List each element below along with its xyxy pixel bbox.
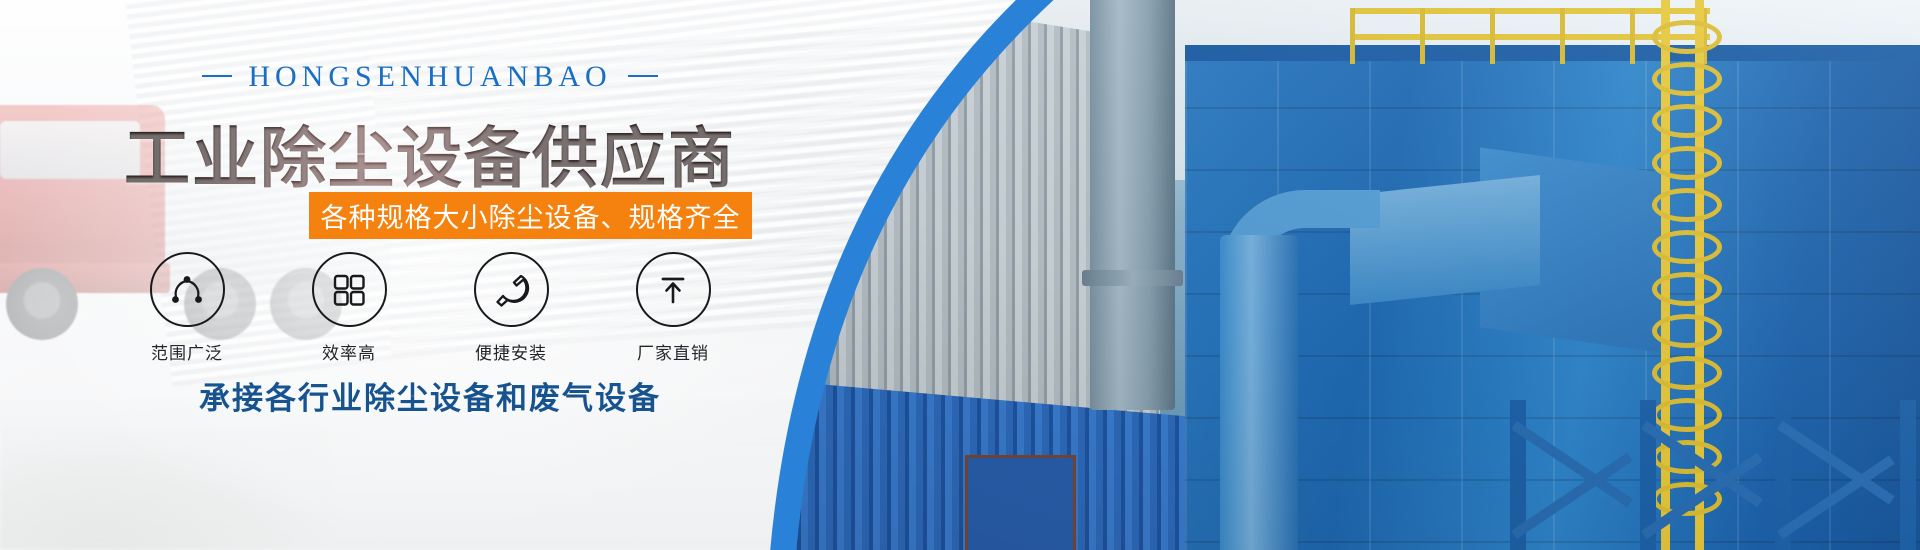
feature-item-range[interactable]: 范围广泛 (127, 252, 247, 364)
feature-icon-circle (312, 252, 387, 327)
page-title: 工业除尘设备供应商 (0, 105, 860, 201)
feature-label: 厂家直销 (613, 339, 733, 364)
subtitle-orange-banner: 各种规格大小除尘设备、规格齐全 (309, 192, 752, 239)
feature-item-efficiency[interactable]: 效率高 (289, 252, 409, 364)
subtitle-text: 各种规格大小除尘设备、规格齐全 (321, 196, 741, 235)
feature-label: 范围广泛 (127, 339, 247, 364)
feature-icon-circle (150, 252, 225, 327)
feature-label: 效率高 (289, 339, 409, 364)
hero-banner: HONGSENHUANBAO 工业除尘设备供应商 各种规格大小除尘设备、规格齐全… (0, 0, 1920, 550)
feature-label: 便捷安装 (451, 339, 571, 364)
brand-eyebrow: HONGSENHUANBAO (0, 60, 860, 94)
feature-list: 范围广泛 效率高 (0, 252, 860, 364)
grid-squares-icon (330, 271, 368, 309)
dash-right-icon (628, 75, 658, 77)
hero-content: HONGSENHUANBAO 工业除尘设备供应商 各种规格大小除尘设备、规格齐全… (0, 0, 860, 550)
photo-shading (790, 0, 1920, 550)
arrow-up-icon (653, 270, 693, 310)
industrial-photo (790, 0, 1920, 550)
share-nodes-icon (167, 270, 207, 310)
dash-left-icon (202, 75, 232, 77)
brand-eyebrow-text: HONGSENHUANBAO (248, 60, 611, 93)
feature-item-installation[interactable]: 便捷安装 (451, 252, 571, 364)
feature-icon-circle (474, 252, 549, 327)
wrench-icon (490, 269, 532, 311)
feature-icon-circle (636, 252, 711, 327)
feature-item-factory-direct[interactable]: 厂家直销 (613, 252, 733, 364)
hero-tagline: 承接各行业除尘设备和废气设备 (0, 373, 860, 418)
